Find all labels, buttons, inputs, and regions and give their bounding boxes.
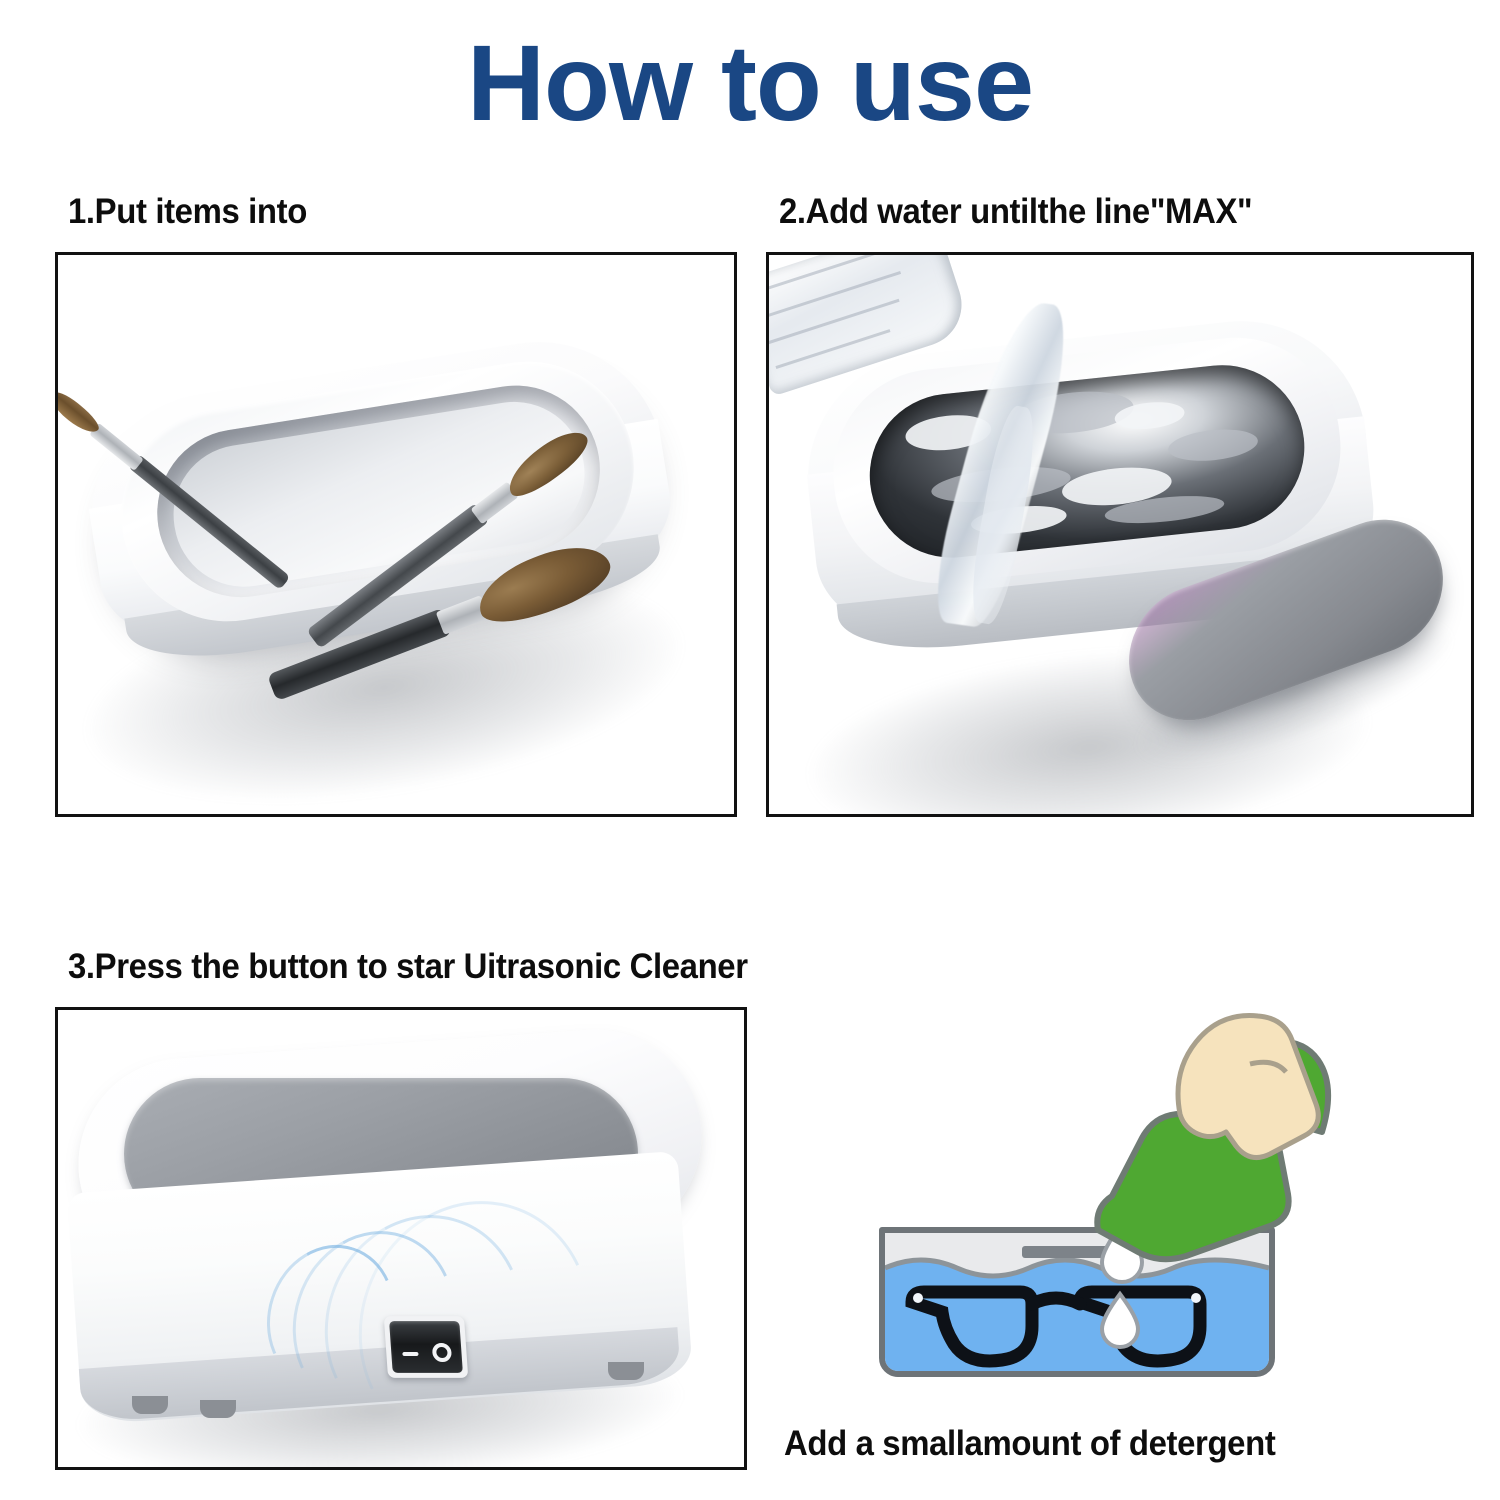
- step-3-heading: 3.Press the button to star Uitrasonic Cl…: [68, 947, 748, 987]
- step-1-heading: 1.Put items into: [68, 192, 307, 232]
- brush-bristles: [55, 387, 103, 438]
- cleaner-running-scene: [58, 1010, 744, 1467]
- detergent-caption: Add a smallamount of detergent: [784, 1424, 1275, 1464]
- step-2-heading: 2.Add water untilthe line"MAX": [779, 192, 1252, 232]
- power-on-mark-icon: [402, 1352, 418, 1356]
- power-switch-rocker[interactable]: [389, 1321, 463, 1373]
- infographic-root: How to use 1.Put items into: [0, 0, 1500, 1500]
- page-title: How to use: [0, 26, 1500, 139]
- pouring-water-scene: [769, 255, 1471, 814]
- step-1-image-panel: [55, 252, 737, 817]
- step-2-image-panel: [766, 252, 1474, 817]
- cleaner-closed-unit: [72, 1044, 712, 1436]
- power-off-mark-icon: [432, 1343, 452, 1362]
- glasses-hinge: [913, 1293, 923, 1303]
- glasses-hinge: [1191, 1293, 1201, 1303]
- unit-leg: [608, 1362, 644, 1380]
- power-switch[interactable]: [384, 1316, 469, 1378]
- unit-leg: [132, 1396, 168, 1414]
- brushes-in-tub-scene: [58, 255, 734, 814]
- cleaner-tub-filling: [796, 309, 1395, 765]
- detergent-illustration: [852, 1006, 1472, 1418]
- hand-icon: [1178, 1016, 1318, 1158]
- unit-leg: [200, 1400, 236, 1418]
- step-3-image-panel: [55, 1007, 747, 1470]
